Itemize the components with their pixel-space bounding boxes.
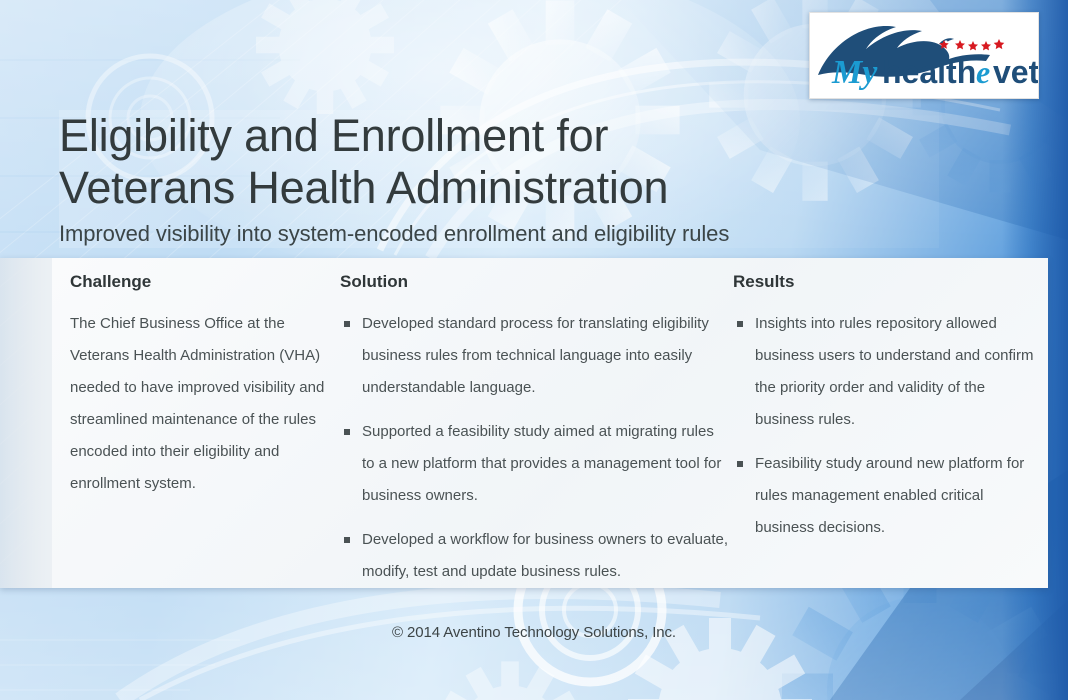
columns-container: Challenge The Chief Business Office at t… (0, 258, 1048, 588)
square-bullet-icon (344, 321, 350, 327)
column-results: Results Insights into rules repository a… (733, 272, 1038, 556)
square-bullet-icon (344, 537, 350, 543)
column-heading-results: Results (733, 272, 1038, 292)
column-paragraph-challenge: The Chief Business Office at the Veteran… (70, 308, 342, 500)
bullet-list-solution: Developed standard process for translati… (340, 308, 730, 588)
column-challenge: Challenge The Chief Business Office at t… (70, 272, 342, 500)
square-bullet-icon (737, 321, 743, 327)
list-item: Feasibility study around new platform fo… (733, 448, 1038, 544)
my-healthevet-logo[interactable]: My health e vet (809, 12, 1039, 99)
logo-word-my: My (831, 54, 878, 91)
logo-word-vet: vet (993, 54, 1038, 90)
square-bullet-icon (344, 429, 350, 435)
column-heading-challenge: Challenge (70, 272, 342, 292)
logo-word-e: e (976, 54, 990, 90)
column-solution: Solution Developed standard process for … (340, 272, 730, 600)
content-panel: Challenge The Chief Business Office at t… (0, 258, 1048, 588)
copyright-footer: © 2014 Aventino Technology Solutions, In… (0, 624, 1068, 641)
logo-word-health: health (882, 54, 976, 90)
list-item-text: Developed standard process for translati… (362, 315, 709, 396)
page-subtitle: Improved visibility into system-encoded … (59, 220, 939, 248)
list-item-text: Supported a feasibility study aimed at m… (362, 423, 721, 504)
list-item: Supported a feasibility study aimed at m… (340, 416, 730, 512)
slide-canvas: My health e vet Eligibility and Enrollme… (0, 0, 1068, 700)
list-item-text: Feasibility study around new platform fo… (755, 455, 1024, 536)
list-item: Developed a workflow for business owners… (340, 524, 730, 588)
column-heading-solution: Solution (340, 272, 730, 292)
bullet-list-results: Insights into rules repository allowed b… (733, 308, 1038, 544)
square-bullet-icon (737, 461, 743, 467)
list-item: Developed standard process for translati… (340, 308, 730, 404)
list-item-text: Developed a workflow for business owners… (362, 531, 728, 580)
title-block: Eligibility and Enrollment for Veterans … (59, 110, 939, 248)
list-item: Insights into rules repository allowed b… (733, 308, 1038, 436)
list-item-text: Insights into rules repository allowed b… (755, 315, 1034, 428)
page-title: Eligibility and Enrollment for Veterans … (59, 110, 939, 214)
